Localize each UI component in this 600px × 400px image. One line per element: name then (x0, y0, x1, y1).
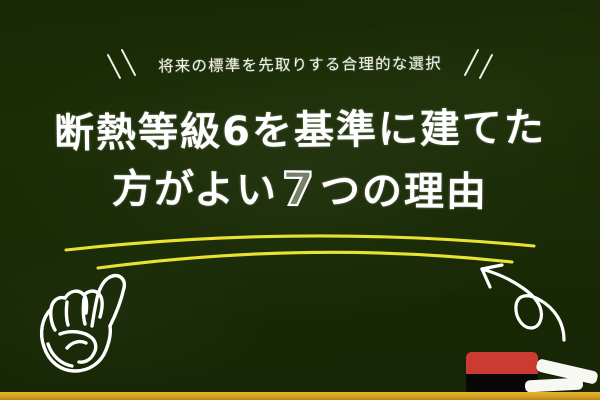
curly-arrow-icon (468, 252, 578, 352)
title-number-seven: 7 (278, 166, 320, 212)
title-line-2-after: つの理由 (320, 164, 488, 219)
yellow-arc-underline (60, 228, 540, 274)
subtitle-row: 将来の標準を先取りする合理的な選択 (0, 44, 600, 84)
right-slash-decoration-icon (456, 47, 496, 81)
title-line-1: 断熱等級6を基準に建てた (0, 100, 600, 161)
chalk-stick (525, 377, 584, 392)
eraser-top-red (466, 352, 538, 374)
left-slash-decoration-icon (104, 47, 144, 81)
title-line-2: 方がよい 7 つの理由 (0, 161, 600, 220)
title-block: 断熱等級6を基準に建てた 方がよい 7 つの理由 (0, 104, 600, 218)
pointing-hand-icon (34, 268, 152, 380)
blackboard-poster: 将来の標準を先取りする合理的な選択 断熱等級6を基準に建てた 方がよい 7 つの… (0, 0, 600, 400)
title-line-2-before: 方がよい (112, 162, 278, 217)
subtitle-text: 将来の標準を先取りする合理的な選択 (158, 52, 442, 77)
chalk-tray-ledge (0, 392, 600, 400)
